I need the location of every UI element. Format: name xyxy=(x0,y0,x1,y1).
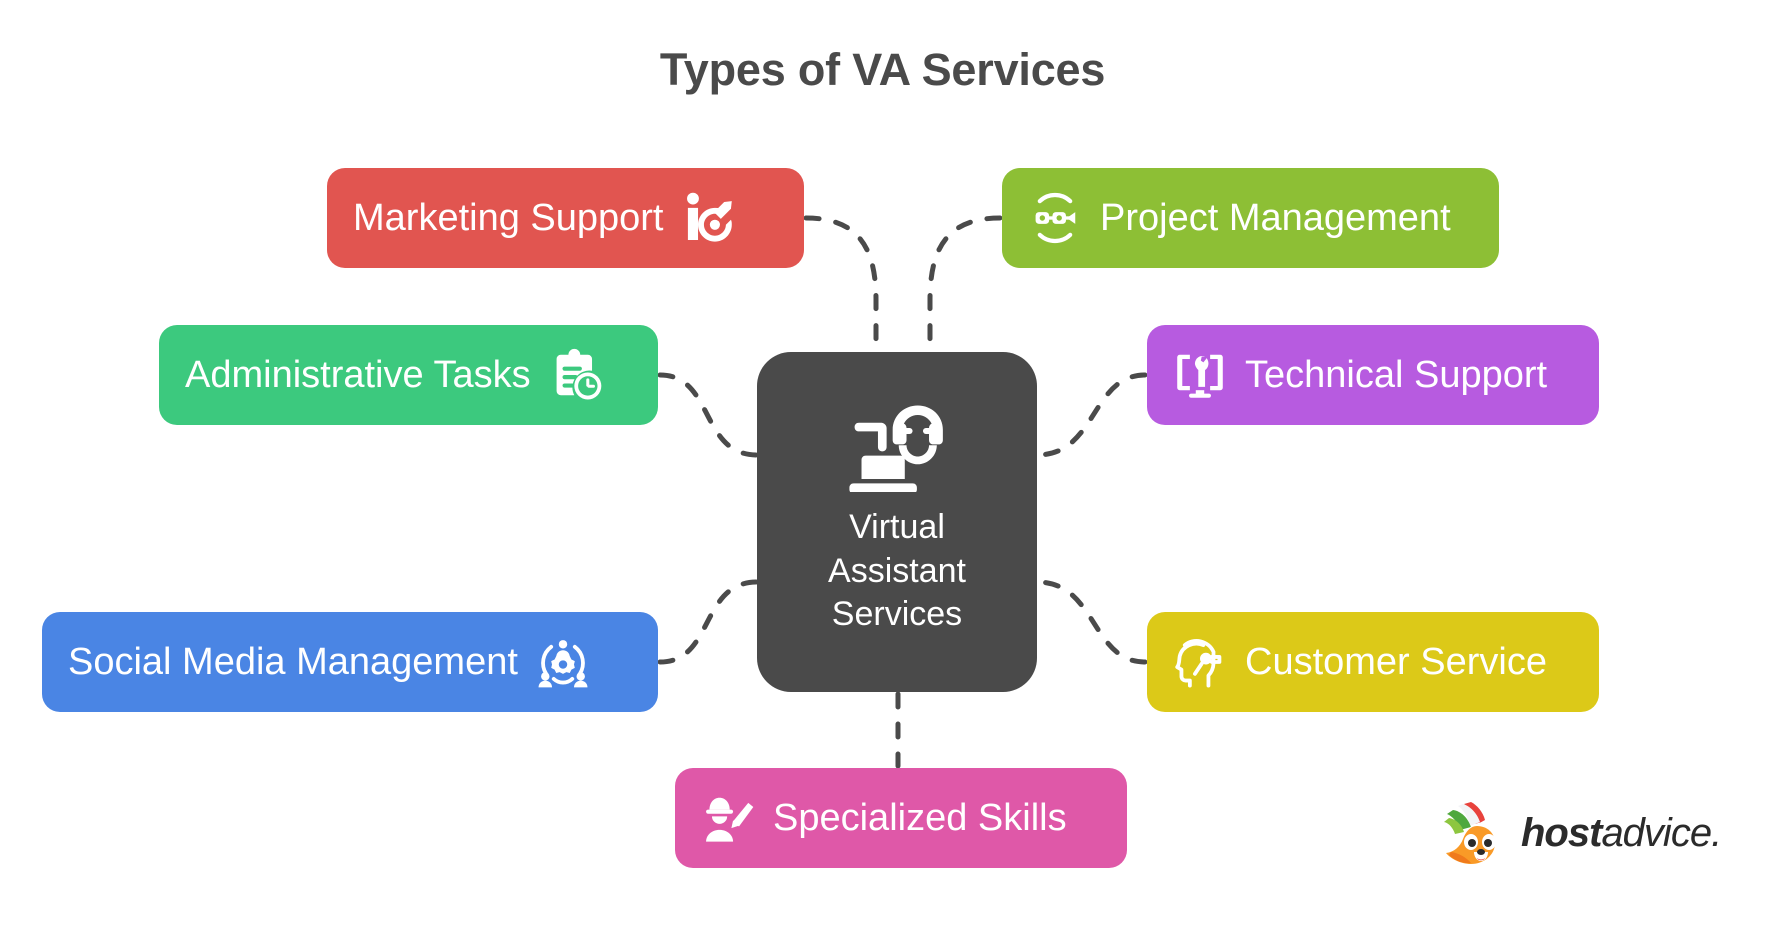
page-title: Types of VA Services xyxy=(0,44,1765,96)
service-label-specialized-skills: Specialized Skills xyxy=(773,799,1067,837)
service-pill-social-media-management[interactable]: Social Media Management xyxy=(42,612,658,712)
connector-social xyxy=(660,582,757,662)
center-node-label: Virtual Assistant Services xyxy=(828,506,966,637)
connector-admin xyxy=(660,375,757,455)
person-pencil-icon xyxy=(701,791,755,845)
logo-wordmark: hostadvice. xyxy=(1521,811,1721,856)
service-label-technical-support: Technical Support xyxy=(1245,356,1547,394)
service-pill-administrative-tasks[interactable]: Administrative Tasks xyxy=(159,325,658,425)
logo-word-host: host xyxy=(1521,811,1601,855)
connector-technical xyxy=(1037,375,1145,455)
people-network-gear-icon xyxy=(536,635,590,689)
service-pill-specialized-skills[interactable]: Specialized Skills xyxy=(675,768,1127,868)
service-pill-customer-service[interactable]: Customer Service xyxy=(1147,612,1599,712)
headset-profile-icon xyxy=(1173,635,1227,689)
logo-word-advice: advice. xyxy=(1601,811,1721,855)
service-label-project-management: Project Management xyxy=(1100,199,1451,237)
workflow-process-icon xyxy=(1028,191,1082,245)
center-node-virtual-assistant-services[interactable]: Virtual Assistant Services xyxy=(757,352,1037,692)
service-pill-project-management[interactable]: Project Management xyxy=(1002,168,1499,268)
service-pill-marketing-support[interactable]: Marketing Support xyxy=(327,168,804,268)
service-label-marketing-support: Marketing Support xyxy=(353,199,664,237)
fox-mascot-icon xyxy=(1441,800,1515,866)
connector-project xyxy=(930,218,1000,352)
connector-customer xyxy=(1037,582,1145,662)
person-target-dart-icon xyxy=(682,191,736,245)
clipboard-clock-icon xyxy=(549,348,603,402)
hostadvice-logo[interactable]: hostadvice. xyxy=(1441,798,1721,868)
monitor-wrench-icon xyxy=(1173,348,1227,402)
infographic-canvas: Types of VA Services Virtual Assista xyxy=(0,0,1765,939)
service-label-administrative-tasks: Administrative Tasks xyxy=(185,356,531,394)
connector-marketing xyxy=(806,218,876,352)
service-pill-technical-support[interactable]: Technical Support xyxy=(1147,325,1599,425)
headset-agent-laptop-icon xyxy=(845,402,949,492)
service-label-social-media-management: Social Media Management xyxy=(68,643,518,681)
service-label-customer-service: Customer Service xyxy=(1245,643,1547,681)
